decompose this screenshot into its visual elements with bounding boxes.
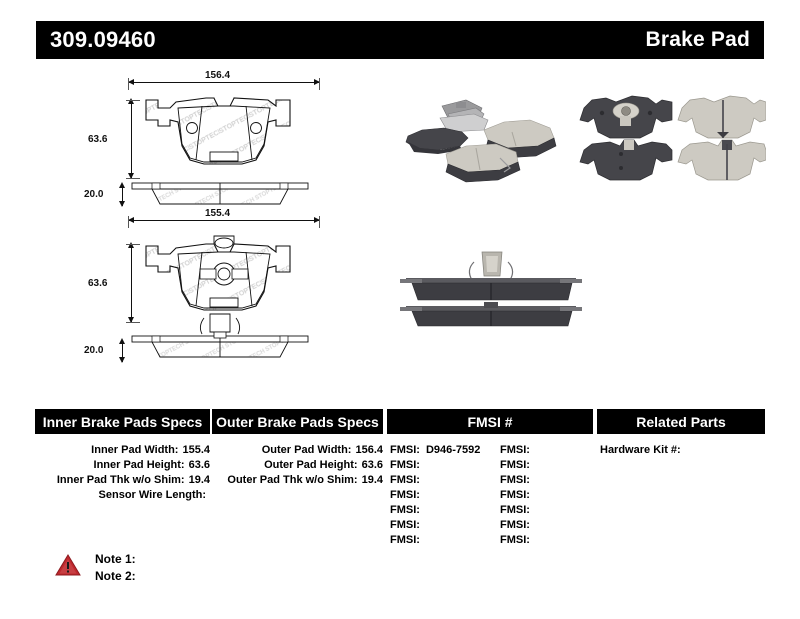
spec-inner-pad-thk-label: Inner Pad Thk w/o Shim: bbox=[57, 474, 185, 486]
spec-inner-pad-thk-value: 19.4 bbox=[189, 474, 210, 486]
product-photo-flat-lay bbox=[576, 88, 766, 188]
spec-inner-pad-height-value: 63.6 bbox=[189, 459, 210, 471]
related-parts-hardware-kit: Hardware Kit #: bbox=[600, 443, 685, 458]
inner-height-ext-top bbox=[126, 244, 140, 245]
fmsi-row: FMSI: bbox=[500, 533, 536, 548]
fmsi-row: FMSI: bbox=[500, 488, 536, 503]
fmsi-label: FMSI: bbox=[500, 444, 530, 456]
header-divider-3 bbox=[593, 409, 595, 434]
header-bar: 309.09460 Brake Pad bbox=[36, 21, 764, 59]
header-outer-brake-pads-specs: Outer Brake Pads Specs bbox=[212, 409, 383, 434]
outer-height-value: 63.6 bbox=[88, 134, 107, 145]
fmsi-label: FMSI: bbox=[390, 534, 420, 546]
header-related-parts: Related Parts bbox=[597, 409, 765, 434]
fmsi-label: FMSI: bbox=[500, 534, 530, 546]
spec-inner-pad-height: Inner Pad Height:63.6 bbox=[35, 458, 210, 473]
inner-pad-side-view: STOPTECH bbox=[130, 312, 310, 364]
inner-pad-front-view: STOPTECH bbox=[118, 230, 328, 322]
outer-pad-front-view: STOPTECH bbox=[118, 86, 328, 176]
fmsi-row: FMSI: bbox=[390, 518, 480, 533]
fmsi-label: FMSI: bbox=[500, 474, 530, 486]
spec-table-header-row: Inner Brake Pads Specs Outer Brake Pads … bbox=[35, 409, 765, 434]
fmsi-row: FMSI: bbox=[500, 443, 536, 458]
spec-outer-pad-thk: Outer Pad Thk w/o Shim:19.4 bbox=[212, 473, 383, 488]
notes-section: Note 1: Note 2: bbox=[55, 551, 136, 585]
fmsi-label: FMSI: bbox=[390, 504, 420, 516]
header-inner-brake-pads-specs: Inner Brake Pads Specs bbox=[35, 409, 210, 434]
outer-specs-block: Outer Pad Width:156.4 Outer Pad Height:6… bbox=[212, 443, 383, 488]
header-divider-2 bbox=[383, 409, 385, 434]
outer-height-ext-bottom bbox=[126, 178, 140, 179]
fmsi-label: FMSI: bbox=[390, 459, 420, 471]
spec-outer-pad-width: Outer Pad Width:156.4 bbox=[212, 443, 383, 458]
inner-width-value: 155.4 bbox=[205, 208, 230, 219]
product-photo-edge-view bbox=[396, 250, 586, 330]
inner-height-value: 63.6 bbox=[88, 278, 107, 289]
spec-inner-pad-width: Inner Pad Width:155.4 bbox=[35, 443, 210, 458]
part-number: 309.09460 bbox=[50, 27, 156, 53]
fmsi-column-1: FMSI:D946-7592 FMSI: FMSI: FMSI: FMSI: F… bbox=[390, 443, 480, 548]
inner-height-arrow-up bbox=[128, 242, 134, 248]
spec-inner-pad-width-value: 155.4 bbox=[182, 444, 210, 456]
hardware-kit-label: Hardware Kit #: bbox=[600, 444, 681, 456]
page-title: Brake Pad bbox=[645, 28, 750, 52]
fmsi-row: FMSI: bbox=[390, 533, 480, 548]
outer-thickness-arrow-up bbox=[119, 182, 125, 188]
fmsi-row: FMSI: bbox=[500, 503, 536, 518]
fmsi-value: D946-7592 bbox=[426, 444, 480, 456]
spec-inner-pad-height-label: Inner Pad Height: bbox=[94, 459, 185, 471]
note-2: Note 2: bbox=[95, 568, 136, 585]
spec-table-body: Inner Pad Width:155.4 Inner Pad Height:6… bbox=[35, 434, 765, 574]
inner-width-dim-line bbox=[128, 220, 320, 221]
spec-outer-pad-width-value: 156.4 bbox=[355, 444, 383, 456]
related-parts-block: Hardware Kit #: bbox=[600, 443, 685, 458]
outer-thickness-value: 20.0 bbox=[84, 189, 103, 200]
spec-inner-pad-width-label: Inner Pad Width: bbox=[91, 444, 178, 456]
spec-inner-pad-thk: Inner Pad Thk w/o Shim:19.4 bbox=[35, 473, 210, 488]
spec-outer-pad-height-label: Outer Pad Height: bbox=[264, 459, 358, 471]
outer-height-ext-top bbox=[126, 100, 140, 101]
note-1: Note 1: bbox=[95, 551, 136, 568]
spec-sensor-wire-length: Sensor Wire Length: bbox=[35, 488, 210, 503]
spec-outer-pad-thk-label: Outer Pad Thk w/o Shim: bbox=[227, 474, 357, 486]
fmsi-row: FMSI: bbox=[390, 503, 480, 518]
fmsi-row: FMSI:D946-7592 bbox=[390, 443, 480, 458]
fmsi-row: FMSI: bbox=[500, 473, 536, 488]
inner-specs-block: Inner Pad Width:155.4 Inner Pad Height:6… bbox=[35, 443, 210, 503]
warning-triangle-icon bbox=[55, 553, 81, 577]
note-list: Note 1: Note 2: bbox=[95, 551, 136, 585]
fmsi-label: FMSI: bbox=[500, 519, 530, 531]
inner-width-ext-left bbox=[128, 216, 129, 228]
outer-width-ext-left bbox=[128, 78, 129, 90]
fmsi-label: FMSI: bbox=[500, 504, 530, 516]
outer-thickness-arrow-down bbox=[119, 201, 125, 207]
outer-height-arrow-up bbox=[128, 98, 134, 104]
inner-thickness-value: 20.0 bbox=[84, 345, 103, 356]
inner-thickness-arrow-up bbox=[119, 338, 125, 344]
spec-outer-pad-height-value: 63.6 bbox=[362, 459, 383, 471]
outer-width-dim-line bbox=[128, 82, 320, 83]
fmsi-label: FMSI: bbox=[390, 444, 420, 456]
spec-outer-pad-thk-value: 19.4 bbox=[362, 474, 383, 486]
inner-height-dim-line bbox=[131, 244, 132, 322]
outer-pad-side-view: STOPTECH bbox=[130, 180, 310, 210]
inner-thickness-arrow-down bbox=[119, 357, 125, 363]
inner-width-ext-right bbox=[319, 216, 320, 228]
fmsi-row: FMSI: bbox=[390, 458, 480, 473]
spec-sheet-page: 309.09460 Brake Pad STOPTECH bbox=[0, 0, 800, 619]
spec-sensor-wire-length-label: Sensor Wire Length: bbox=[99, 489, 206, 501]
outer-width-value: 156.4 bbox=[205, 70, 230, 81]
product-photo-group-angled bbox=[404, 88, 564, 188]
outer-height-dim-line bbox=[131, 100, 132, 178]
outer-width-ext-right bbox=[319, 78, 320, 90]
technical-drawings: STOPTECH 156.4 bbox=[0, 62, 800, 392]
fmsi-label: FMSI: bbox=[500, 459, 530, 471]
fmsi-row: FMSI: bbox=[500, 518, 536, 533]
header-fmsi: FMSI # bbox=[387, 409, 593, 434]
fmsi-column-2: FMSI: FMSI: FMSI: FMSI: FMSI: FMSI: bbox=[500, 443, 536, 548]
fmsi-label: FMSI: bbox=[500, 489, 530, 501]
fmsi-label: FMSI: bbox=[390, 489, 420, 501]
fmsi-label: FMSI: bbox=[390, 519, 420, 531]
fmsi-row: FMSI: bbox=[500, 458, 536, 473]
spec-outer-pad-height: Outer Pad Height:63.6 bbox=[212, 458, 383, 473]
fmsi-row: FMSI: bbox=[390, 488, 480, 503]
fmsi-row: FMSI: bbox=[390, 473, 480, 488]
spec-outer-pad-width-label: Outer Pad Width: bbox=[262, 444, 352, 456]
fmsi-label: FMSI: bbox=[390, 474, 420, 486]
spec-table: Inner Brake Pads Specs Outer Brake Pads … bbox=[35, 409, 765, 574]
